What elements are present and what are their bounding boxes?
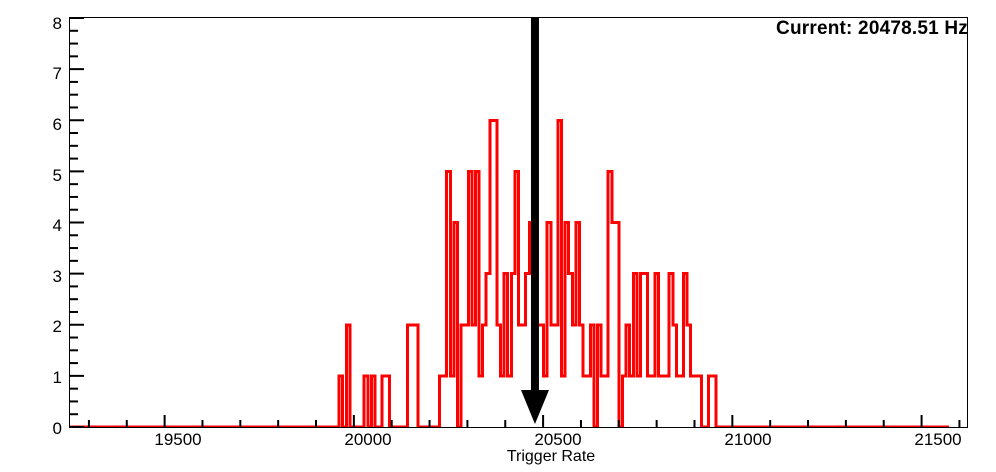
y-tick-label: 7 bbox=[20, 65, 62, 82]
y-tick-label: 8 bbox=[20, 15, 62, 32]
histogram-canvas: 0 1 2 3 4 5 6 7 8 19500 20000 20500 2100… bbox=[0, 0, 996, 472]
y-tick-label: 5 bbox=[20, 167, 62, 184]
plot-area bbox=[70, 18, 967, 427]
x-tick-label: 21500 bbox=[883, 431, 993, 448]
x-tick-label: 20500 bbox=[503, 431, 613, 448]
y-tick-label: 6 bbox=[20, 116, 62, 133]
x-tick-label: 21000 bbox=[693, 431, 803, 448]
x-axis-title: Trigger Rate bbox=[446, 448, 656, 466]
y-tick-label: 0 bbox=[20, 420, 62, 437]
y-tick-label: 1 bbox=[20, 369, 62, 386]
histogram-curve bbox=[70, 18, 967, 427]
y-tick-label: 3 bbox=[20, 268, 62, 285]
plot-frame bbox=[69, 17, 968, 428]
y-tick-label: 2 bbox=[20, 318, 62, 335]
y-tick-label: 4 bbox=[20, 217, 62, 234]
x-tick-label: 19500 bbox=[123, 431, 233, 448]
current-rate-label: Current: 20478.51 Hz bbox=[776, 18, 968, 40]
x-tick-label: 20000 bbox=[313, 431, 423, 448]
